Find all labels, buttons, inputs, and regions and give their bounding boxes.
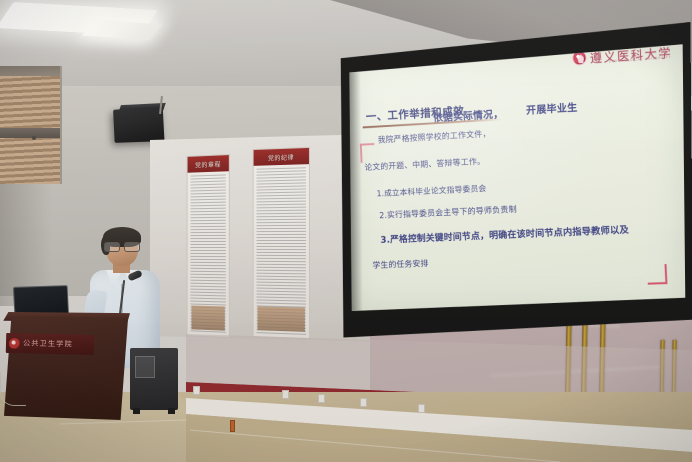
presentation-room-photo: 党的章程 党的纪律 <box>0 0 692 462</box>
decorative-corner-bottom-right <box>647 264 668 285</box>
power-outlet[interactable] <box>282 390 289 399</box>
power-cable <box>0 372 26 406</box>
presentation-slide: 遵义医科大学 ZUNYI MEDICAL UNIVERSITY 一、工作举措和成… <box>348 44 686 314</box>
poster-heading-text: 党的章程 <box>195 159 221 169</box>
window-with-blinds <box>0 66 62 184</box>
slide-body-line: 依据实际情况， <box>433 106 504 125</box>
projection-screen[interactable]: 遵义医科大学 ZUNYI MEDICAL UNIVERSITY 一、工作举措和成… <box>339 22 692 342</box>
cabinet-foot <box>133 408 140 414</box>
eyeglasses-icon <box>104 242 140 251</box>
blind-headrail <box>0 128 60 138</box>
power-outlet[interactable] <box>318 394 325 403</box>
slide-body-line: 开展毕业生 <box>526 100 578 118</box>
blind-knob <box>32 136 36 140</box>
screen-surface[interactable]: 遵义医科大学 ZUNYI MEDICAL UNIVERSITY 一、工作举措和成… <box>348 44 686 314</box>
slide-body-line: 我院严格按照学校的工作文件， <box>377 128 490 146</box>
slide-body-line: 2.实行指导委员会主导下的导师负责制 <box>379 203 517 221</box>
loudspeaker-icon <box>113 106 164 143</box>
slide-body-line: 1.成立本科毕业论文指导委员会 <box>376 182 486 199</box>
poster-dang-de-zhangcheng: 党的章程 <box>187 154 230 338</box>
poster-heading-bar: 党的章程 <box>188 155 229 173</box>
slide-body-line: 3.严格控制关键时间节点，明确在该时间节点内指导教师以及 <box>380 222 629 246</box>
poster-illustration <box>191 306 224 331</box>
poster-heading-text: 党的纪律 <box>268 152 294 162</box>
marble-vein <box>490 366 660 378</box>
slide-body-line: 论文的开题、中期、答辩等工作。 <box>364 155 485 173</box>
floor-cabinet <box>130 348 178 410</box>
decorative-corner-top-left <box>360 143 375 163</box>
poster-heading-bar: 党的纪律 <box>254 148 309 166</box>
cabinet-panel <box>135 356 155 378</box>
power-outlet[interactable] <box>360 398 367 407</box>
floor-cable-marker <box>230 420 235 432</box>
podium-plaque-text: 公共卫生学院 <box>23 338 73 349</box>
school-emblem-icon <box>9 337 20 348</box>
poster-illustration <box>258 306 305 331</box>
podium-plaque: 公共卫生学院 <box>6 333 94 355</box>
slide-body-line: 学生的任务安排 <box>372 257 428 271</box>
poster-dang-de-jilv: 党的纪律 <box>253 147 310 339</box>
cabinet-foot <box>168 408 175 414</box>
power-outlet[interactable] <box>418 404 425 413</box>
power-outlet[interactable] <box>193 386 200 395</box>
